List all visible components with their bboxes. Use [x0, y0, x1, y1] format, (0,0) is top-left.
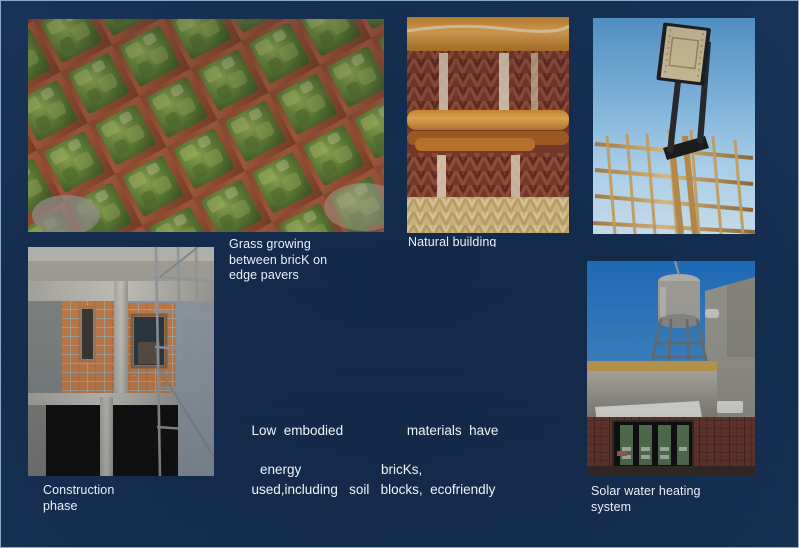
- presentation-slide: Grass growing between bricK on edge pave…: [0, 0, 799, 548]
- caption-solar-water-heating: Solar water heating system: [591, 484, 761, 515]
- natural-building-art: [407, 17, 569, 233]
- solar-water-heating-photo: [587, 261, 755, 476]
- caption-natural-building: Natural building: [408, 235, 568, 247]
- natural-building-photo: [407, 17, 569, 233]
- grass-pavers-photo: [28, 19, 384, 232]
- solar-water-heating-art: [587, 261, 755, 476]
- body-line-2-base: used,including soil blocks, ecofriendly: [252, 482, 496, 497]
- bamboo-structure-photo: [593, 18, 755, 234]
- body-line-1-text: Low embodied materials have: [252, 423, 499, 438]
- construction-phase-photo: [28, 247, 214, 476]
- grass-pavers-art: [28, 19, 384, 232]
- body-line-2-overlay-energy: energy: [260, 460, 301, 479]
- body-text-block: Low embodied materials have used,includi…: [229, 402, 545, 548]
- caption-construction-phase: Construction phase: [43, 483, 193, 514]
- body-line-1: Low embodied materials have: [229, 402, 545, 460]
- caption-grass-pavers: Grass growing between bricK on edge pave…: [229, 237, 359, 284]
- bamboo-structure-art: [593, 18, 755, 234]
- body-line-2-overlay-bricks: bricKs,: [381, 460, 422, 479]
- body-line-2: used,including soil blocks, ecofriendly …: [229, 460, 545, 548]
- construction-phase-art: [28, 247, 214, 476]
